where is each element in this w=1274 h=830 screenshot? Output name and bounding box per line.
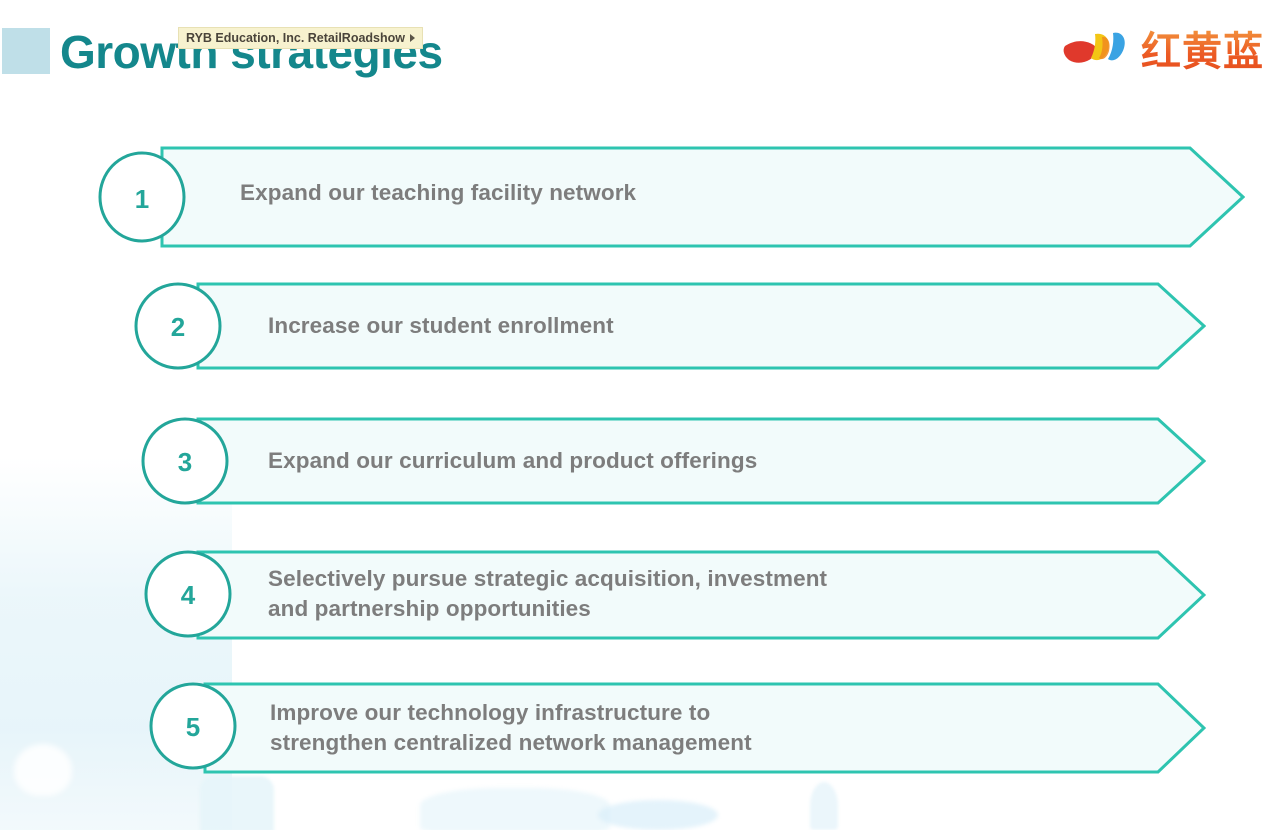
strategy-label: Selectively pursue strategic acquisition… — [268, 564, 1168, 624]
strategy-row[interactable]: Increase our student enrollment — [196, 282, 1206, 370]
strategy-number: 1 — [97, 186, 187, 212]
strategy-row[interactable]: Expand our curriculum and product offeri… — [196, 417, 1206, 505]
strategy-row[interactable]: Improve our technology infrastructure to… — [203, 682, 1206, 774]
strategy-badge[interactable]: 1 — [97, 150, 187, 244]
strategy-list: Expand our teaching facility network 1 I… — [0, 0, 1274, 830]
strategy-badge[interactable]: 3 — [140, 416, 230, 506]
strategy-number: 4 — [143, 582, 233, 608]
strategy-number: 2 — [133, 314, 223, 340]
strategy-row[interactable]: Expand our teaching facility network — [160, 146, 1245, 248]
slide-canvas: Growth strategies RYB Education, Inc. Re… — [0, 0, 1274, 830]
strategy-label: Expand our teaching facility network — [240, 178, 1200, 208]
strategy-row[interactable]: Selectively pursue strategic acquisition… — [196, 550, 1206, 640]
strategy-number: 3 — [140, 449, 230, 475]
strategy-badge[interactable]: 5 — [148, 681, 238, 771]
strategy-badge[interactable]: 4 — [143, 549, 233, 639]
strategy-label: Expand our curriculum and product offeri… — [268, 446, 1168, 476]
strategy-label: Increase our student enrollment — [268, 311, 1168, 341]
strategy-number: 5 — [148, 714, 238, 740]
strategy-badge[interactable]: 2 — [133, 281, 223, 371]
strategy-label: Improve our technology infrastructure to… — [270, 698, 1170, 758]
